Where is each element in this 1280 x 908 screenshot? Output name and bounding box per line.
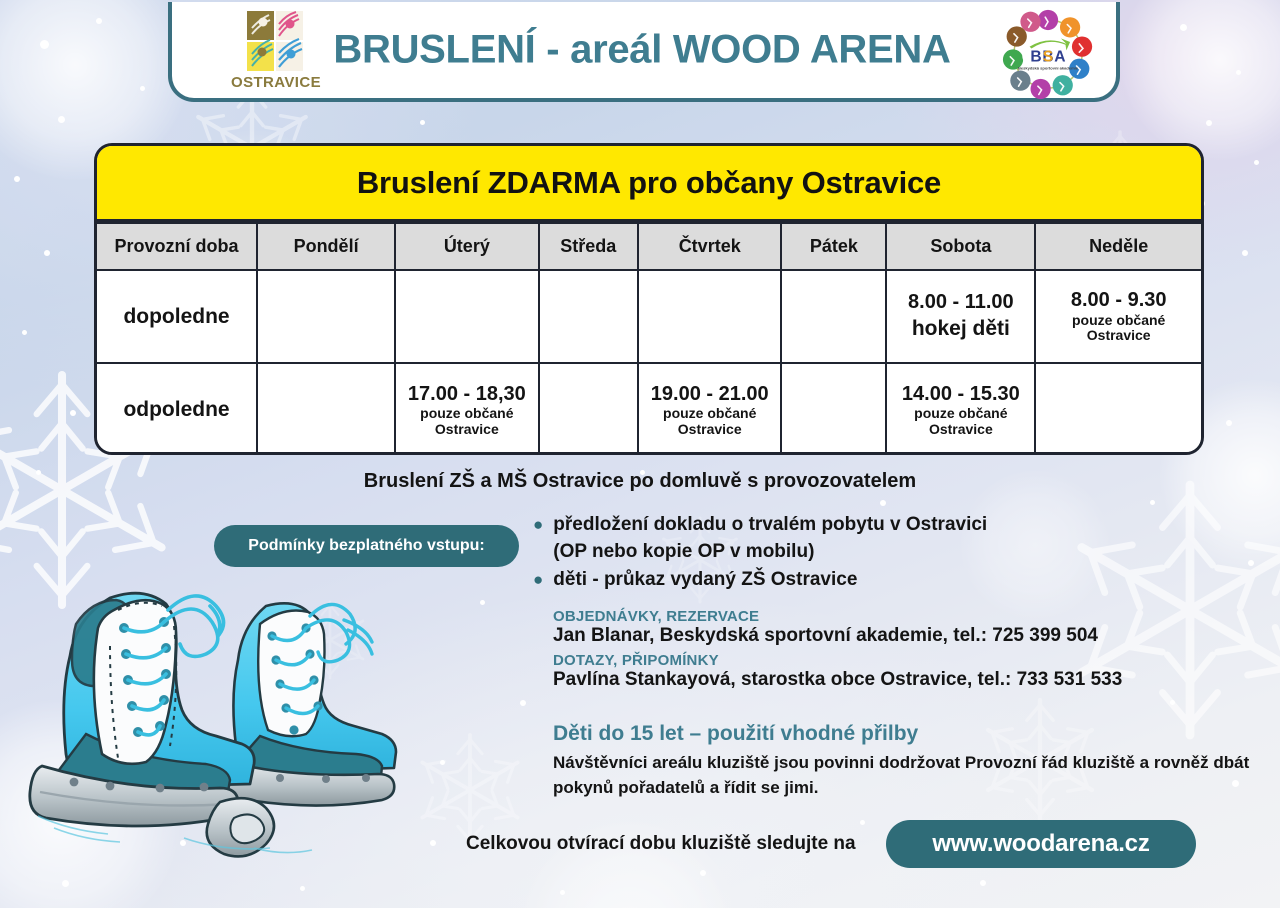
opening-hours-footer-text: Celkovou otvírací dobu kluziště sledujte… xyxy=(466,833,856,855)
table-row: odpoledne17.00 - 18,30pouze občanéOstrav… xyxy=(97,363,1201,455)
page-title: BRUSLENÍ - areál WOOD ARENA xyxy=(312,28,972,73)
schedule-cell: 19.00 - 21.00pouze občanéOstravice xyxy=(638,363,782,455)
schedule-cell: 8.00 - 9.30pouze občanéOstravice xyxy=(1035,270,1201,363)
schedule-table: Provozní doba Pondělí Úterý Středa Čtvrt… xyxy=(97,222,1201,455)
column-header-nedele: Neděle xyxy=(1035,223,1201,270)
svg-text:B: B xyxy=(1030,48,1041,65)
cell-note: hokej děti xyxy=(887,315,1034,342)
schedule-cell: 14.00 - 15.30pouze občanéOstravice xyxy=(886,363,1035,455)
helmet-notice-heading: Děti do 15 let – použití vhodné přilby xyxy=(553,722,1253,746)
schedule-cell xyxy=(1035,363,1201,455)
schedule-banner-title: Bruslení ZDARMA pro občany Ostravice xyxy=(97,146,1201,222)
schedule-cell xyxy=(257,363,395,455)
svg-text:A: A xyxy=(1054,48,1065,65)
free-entry-conditions-badge: Podmínky bezplatného vstupu: xyxy=(214,525,519,567)
contact-label-1: DOTAZY, PŘIPOMÍNKY xyxy=(553,652,1253,669)
schedule-cell xyxy=(781,363,886,455)
column-header-provozni-doba: Provozní doba xyxy=(97,223,257,270)
schedule-body: dopoledne8.00 - 11.00hokej děti8.00 - 9.… xyxy=(97,270,1201,455)
schedule-cell xyxy=(539,363,638,455)
school-skating-note: Bruslení ZŠ a MŠ Ostravice po domluvě s … xyxy=(0,470,1280,493)
svg-text:Beskydská sportovní akademie: Beskydská sportovní akademie xyxy=(1018,66,1079,71)
schedule-cell xyxy=(638,270,782,363)
schedule-cell xyxy=(539,270,638,363)
bullet-icon: ● xyxy=(533,567,543,593)
column-header-patek: Pátek xyxy=(781,223,886,270)
free-entry-conditions-list: ●předložení dokladu o trvalém pobytu v O… xyxy=(533,512,1173,595)
bsa-logo-icon: B B S A Beskydská sportovní akademie xyxy=(1002,8,1094,100)
cell-time: 14.00 - 15.30 xyxy=(887,383,1034,407)
column-header-utery: Úterý xyxy=(395,223,539,270)
schedule-cell xyxy=(257,270,395,363)
list-item: ●předložení dokladu o trvalém pobytu v O… xyxy=(533,512,1173,566)
contact-value-1: Pavlína Stankayová, starostka obce Ostra… xyxy=(553,669,1253,691)
condition-text: předložení dokladu o trvalém pobytu v Os… xyxy=(553,512,987,566)
website-link-button[interactable]: www.woodarena.cz xyxy=(886,820,1196,868)
bullet-icon: ● xyxy=(533,512,543,538)
contacts-section: OBJEDNÁVKY, REZERVACEJan Blanar, Beskyds… xyxy=(553,606,1253,696)
schedule-card: Bruslení ZDARMA pro občany Ostravice Pro… xyxy=(94,143,1204,455)
list-item: ●děti - průkaz vydaný ZŠ Ostravice xyxy=(533,567,1173,594)
poster-root: OSTRAVICE BRUSLENÍ - areál WOOD ARENA xyxy=(0,0,1280,908)
contact-value-0: Jan Blanar, Beskydská sportovní akademie… xyxy=(553,625,1253,647)
poster-header: OSTRAVICE BRUSLENÍ - areál WOOD ARENA xyxy=(168,2,1120,102)
cell-note: pouze občanéOstravice xyxy=(396,406,538,437)
ice-skates-illustration xyxy=(14,566,404,896)
cell-note: pouze občanéOstravice xyxy=(639,406,781,437)
table-row: dopoledne8.00 - 11.00hokej děti8.00 - 9.… xyxy=(97,270,1201,363)
column-header-ctvrtek: Čtvrtek xyxy=(638,223,782,270)
row-header-dopoledne: dopoledne xyxy=(97,270,257,363)
ostravice-logo-label: OSTRAVICE xyxy=(216,74,336,91)
contact-label-0: OBJEDNÁVKY, REZERVACE xyxy=(553,608,1253,625)
column-header-streda: Středa xyxy=(539,223,638,270)
cell-note: pouze občanéOstravice xyxy=(887,406,1034,437)
condition-text: děti - průkaz vydaný ZŠ Ostravice xyxy=(553,567,857,594)
svg-text:S: S xyxy=(1043,48,1053,65)
schedule-cell: 17.00 - 18,30pouze občanéOstravice xyxy=(395,363,539,455)
cell-time: 17.00 - 18,30 xyxy=(396,383,538,407)
cell-note: pouze občanéOstravice xyxy=(1036,313,1201,344)
cell-time: 19.00 - 21.00 xyxy=(639,383,781,407)
ostravice-crest-icon xyxy=(246,10,304,72)
schedule-cell: 8.00 - 11.00hokej děti xyxy=(886,270,1035,363)
cell-time: 8.00 - 9.30 xyxy=(1036,289,1201,313)
schedule-cell xyxy=(395,270,539,363)
rink-rules-text: Návštěvníci areálu kluziště jsou povinni… xyxy=(553,751,1253,800)
cell-time: 8.00 - 11.00 xyxy=(887,291,1034,315)
schedule-header-row: Provozní doba Pondělí Úterý Středa Čtvrt… xyxy=(97,223,1201,270)
column-header-pondeli: Pondělí xyxy=(257,223,395,270)
column-header-sobota: Sobota xyxy=(886,223,1035,270)
safety-notice: Děti do 15 let – použití vhodné přilby N… xyxy=(553,722,1253,800)
row-header-odpoledne: odpoledne xyxy=(97,363,257,455)
schedule-cell xyxy=(781,270,886,363)
